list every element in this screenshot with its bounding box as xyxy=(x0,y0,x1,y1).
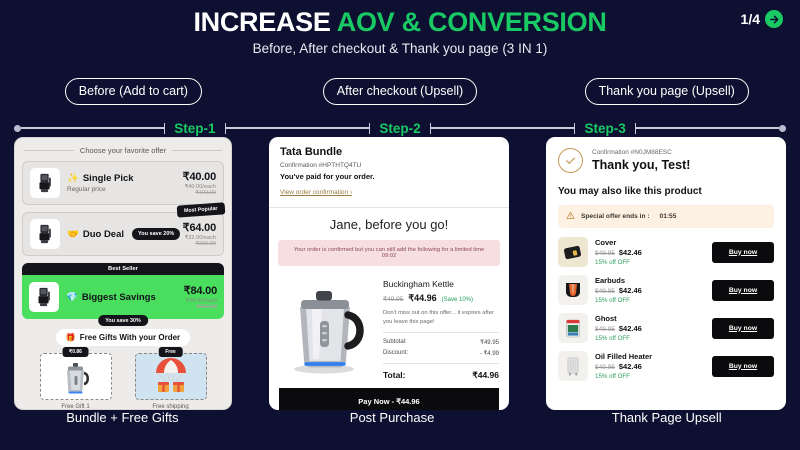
product-name: Buckingham Kettle xyxy=(383,279,499,289)
offer-text: ✨ Single Pick Regular price xyxy=(60,173,183,193)
view-order-confirmation-link[interactable]: View order confirmation › xyxy=(280,189,352,196)
gift-icon: 🎁 xyxy=(66,333,76,342)
rail-end-dot xyxy=(779,125,786,132)
choose-offer-header: Choose your favorite offer xyxy=(24,146,222,155)
product-thumbnail-cover-icon xyxy=(558,237,588,267)
parachute-gift-icon xyxy=(150,357,192,397)
store-name: Tata Bundle xyxy=(280,146,498,158)
thank-you-text-block: Confirmation #N0JM88ESC Thank you, Test! xyxy=(592,149,690,172)
offer-expiry-note: Don't miss out on this offer... it expir… xyxy=(383,309,499,326)
free-gift-item[interactable]: ₹0.86 Free Gift 1 xyxy=(40,353,112,410)
caption-thank-page: Thank Page Upsell xyxy=(547,410,786,425)
product-name: Ghost xyxy=(595,314,705,323)
product-thumbnail-earbuds-icon xyxy=(558,275,588,305)
offer-pricing: ₹84.00 ₹28.00/each ₹300.00 xyxy=(184,284,217,310)
product-thumbnail-icon xyxy=(30,219,60,249)
best-seller-label: Best Seller xyxy=(22,263,224,275)
title-white: INCREASE xyxy=(193,7,330,37)
offer-emoji: 💎 xyxy=(66,292,78,303)
header: INCREASE AOV & CONVERSION Before, After … xyxy=(0,0,800,56)
product-pricing: $49.95 $42.46 xyxy=(595,324,705,333)
product-pricing: $49.95 $42.46 xyxy=(595,248,705,257)
subtotal-label: Subtotal: xyxy=(383,339,407,346)
divider xyxy=(24,150,74,151)
warning-icon xyxy=(566,211,575,222)
gift-price-badge: ₹0.86 xyxy=(62,347,89,357)
offer-option-duo[interactable]: Most Popular 🤝 Duo Deal You save 20% xyxy=(22,212,224,256)
list-item[interactable]: Earbuds $49.95 $42.46 15% off OFF Buy no… xyxy=(558,271,774,309)
product-info: Cover $49.95 $42.46 15% off OFF xyxy=(595,238,705,266)
product-new-price: $42.46 xyxy=(619,362,642,371)
offer-price: ₹40.00 xyxy=(183,170,216,183)
caption-post-purchase: Post Purchase xyxy=(273,410,512,425)
product-pricing: ₹49.95 ₹44.96 (Save 10%) xyxy=(383,293,499,304)
card-captions: Bundle + Free Gifts Post Purchase Thank … xyxy=(0,410,800,425)
total-label: Total: xyxy=(383,370,406,381)
product-thumbnail-icon xyxy=(29,282,59,312)
offer-pricing: ₹40.00 ₹40.00/each ₹100.00 xyxy=(183,170,216,196)
paid-status: You've paid for your order. xyxy=(280,172,498,181)
buy-now-button[interactable]: Buy now xyxy=(712,280,774,301)
step-rail: Step-1 Step-2 Step-3 xyxy=(14,119,786,137)
buy-now-button[interactable]: Buy now xyxy=(712,356,774,377)
free-gifts-header: 🎁 Free Gifts With your Order xyxy=(56,329,190,346)
limited-time-alert: Your order is confirmed but you can stil… xyxy=(278,240,500,266)
caption-bundle: Bundle + Free Gifts xyxy=(14,410,231,425)
step-label-2: Step-2 xyxy=(370,121,429,136)
recommendation-heading: You may also like this product xyxy=(546,179,786,205)
pill-after-checkout[interactable]: After checkout (Upsell) xyxy=(323,78,477,105)
check-circle-icon xyxy=(558,148,583,173)
product-discount: 15% off OFF xyxy=(595,335,705,342)
product-thumbnail-ghost-icon xyxy=(558,313,588,343)
best-save-badge: You save 30% xyxy=(98,315,148,326)
discount-value: - ₹4.99 xyxy=(480,350,499,357)
choose-offer-label: Choose your favorite offer xyxy=(80,146,166,155)
product-thumbnail-heater-icon xyxy=(558,351,588,381)
rail-segment xyxy=(226,127,369,129)
divider xyxy=(172,150,222,151)
product-details: Buckingham Kettle ₹49.95 ₹44.96 (Save 10… xyxy=(383,273,499,381)
product-old-price: $49.95 xyxy=(595,326,615,333)
offer-name-text: Duo Deal xyxy=(83,229,124,240)
step-label-3: Step-3 xyxy=(575,121,634,136)
offer-emoji: 🤝 xyxy=(67,229,79,240)
thank-you-title: Thank you, Test! xyxy=(592,158,690,172)
product-pricing: $49.95 $42.46 xyxy=(595,362,705,371)
offer-subtitle: Regular price xyxy=(67,186,183,193)
product-name: Earbuds xyxy=(595,276,705,285)
offer-price-old: ₹300.00 xyxy=(184,304,217,310)
offer-text: 💎 Biggest Savings xyxy=(59,292,184,303)
title-accent: AOV & CONVERSION xyxy=(337,7,607,37)
buy-now-button[interactable]: Buy now xyxy=(712,318,774,339)
cards-row: Choose your favorite offer ✨ xyxy=(0,137,800,410)
confirmation-number: Confirmation #N0JM88ESC xyxy=(592,149,690,156)
upsell-product-list: Cover $49.95 $42.46 15% off OFF Buy now xyxy=(546,228,786,395)
thank-you-header: Confirmation #N0JM88ESC Thank you, Test! xyxy=(546,137,786,179)
rail-start-dot xyxy=(14,125,21,132)
free-gift-list: ₹0.86 Free Gift 1 xyxy=(22,353,224,410)
special-offer-banner: Special offer ends in : 01:55 xyxy=(558,205,774,228)
page-subtitle: Before, After checkout & Thank you page … xyxy=(0,41,800,56)
confirmation-number: Confirmation #HPTHTQ4TU xyxy=(280,162,498,169)
pill-thank-you[interactable]: Thank you page (Upsell) xyxy=(585,78,749,105)
offer-title: 🤝 Duo Deal You save 20% xyxy=(67,228,183,240)
product-info: Oil Filled Heater $49.95 $42.46 15% off … xyxy=(595,352,705,380)
discount-label: Discount: xyxy=(383,350,408,357)
gift-price-badge: Free xyxy=(158,347,183,357)
product-info: Ghost $49.95 $42.46 15% off OFF xyxy=(595,314,705,342)
gift-image-frame xyxy=(40,353,112,400)
arrow-right-icon[interactable] xyxy=(765,10,783,28)
product-new-price: $42.46 xyxy=(619,286,642,295)
list-item[interactable]: Ghost $49.95 $42.46 15% off OFF Buy now xyxy=(558,309,774,347)
product-save-tag: (Save 10%) xyxy=(442,297,473,303)
offer-pricing: ₹64.00 ₹32.00/each ₹200.00 xyxy=(183,221,216,247)
subtotal-row: Subtotal: ₹49.95 xyxy=(383,339,499,346)
total-value: ₹44.96 xyxy=(472,370,499,381)
rail-segment xyxy=(636,127,779,129)
upsell-product: Buckingham Kettle ₹49.95 ₹44.96 (Save 10… xyxy=(269,266,509,381)
pager[interactable]: 1/4 xyxy=(741,10,783,28)
product-old-price: $49.95 xyxy=(595,364,615,371)
kettle-icon xyxy=(58,357,94,397)
offer-name-text: Biggest Savings xyxy=(82,292,156,303)
pager-count: 1/4 xyxy=(741,11,760,27)
free-gifts-label: Free Gifts With your Order xyxy=(80,333,180,342)
offer-title: 💎 Biggest Savings xyxy=(66,292,184,303)
product-new-price: $42.46 xyxy=(619,248,642,257)
offer-price-old: ₹100.00 xyxy=(183,190,216,196)
best-offer-row[interactable]: 💎 Biggest Savings ₹84.00 ₹28.00/each ₹30… xyxy=(22,275,224,319)
offer-option-best[interactable]: Best Seller 💎 B xyxy=(22,263,224,319)
product-old-price: ₹49.95 xyxy=(383,295,403,303)
offer-title: ✨ Single Pick xyxy=(67,173,183,184)
card-thank-you: Confirmation #N0JM88ESC Thank you, Test!… xyxy=(546,137,786,410)
offer-countdown: 01:55 xyxy=(660,213,677,220)
pill-before[interactable]: Before (Add to cart) xyxy=(65,78,202,105)
offer-ends-label: Special offer ends in : xyxy=(581,213,650,220)
offer-option-single[interactable]: ✨ Single Pick Regular price ₹40.00 ₹40.0… xyxy=(22,161,224,205)
offer-save-chip: You save 20% xyxy=(132,228,180,240)
offer-price: ₹84.00 xyxy=(184,284,217,297)
offer-text: 🤝 Duo Deal You save 20% xyxy=(60,228,183,240)
step-label-1: Step-1 xyxy=(165,121,224,136)
upsell-greeting: Jane, before you go! xyxy=(269,208,509,240)
product-old-price: $49.95 xyxy=(595,250,615,257)
card-post-purchase: Tata Bundle Confirmation #HPTHTQ4TU You'… xyxy=(269,137,509,410)
product-discount: 15% off OFF xyxy=(595,259,705,266)
divider xyxy=(383,332,499,333)
most-popular-ribbon: Most Popular xyxy=(177,202,225,217)
post-purchase-header: Tata Bundle Confirmation #HPTHTQ4TU You'… xyxy=(269,137,509,207)
product-info: Earbuds $49.95 $42.46 15% off OFF xyxy=(595,276,705,304)
offer-name-text: Single Pick xyxy=(83,173,134,184)
offer-emoji: ✨ xyxy=(67,173,79,184)
divider xyxy=(383,363,499,364)
product-image xyxy=(279,273,377,381)
product-pricing: $49.95 $42.46 xyxy=(595,286,705,295)
page-title: INCREASE AOV & CONVERSION xyxy=(0,8,800,36)
rail-segment xyxy=(431,127,574,129)
offer-price-old: ₹200.00 xyxy=(183,241,216,247)
rail-segment xyxy=(21,127,164,129)
pay-now-button[interactable]: Pay Now - ₹44.96 xyxy=(279,388,499,410)
list-item[interactable]: Oil Filled Heater $49.95 $42.46 15% off … xyxy=(558,347,774,385)
product-thumbnail-icon xyxy=(30,168,60,198)
product-new-price: $42.46 xyxy=(619,324,642,333)
product-discount: 15% off OFF xyxy=(595,373,705,380)
gift-image-frame xyxy=(135,353,207,400)
subtotal-value: ₹49.95 xyxy=(480,339,499,346)
product-new-price: ₹44.96 xyxy=(408,293,436,304)
total-row: Total: ₹44.96 xyxy=(383,370,499,381)
buy-now-button[interactable]: Buy now xyxy=(712,242,774,263)
offer-price: ₹64.00 xyxy=(183,221,216,234)
product-name: Cover xyxy=(595,238,705,247)
slide-root: INCREASE AOV & CONVERSION Before, After … xyxy=(0,0,800,450)
product-name: Oil Filled Heater xyxy=(595,352,705,361)
discount-row: Discount: - ₹4.99 xyxy=(383,350,499,357)
kettle-product-icon xyxy=(282,279,374,375)
product-discount: 15% off OFF xyxy=(595,297,705,304)
card-add-to-cart: Choose your favorite offer ✨ xyxy=(14,137,232,410)
product-old-price: $49.95 xyxy=(595,288,615,295)
free-gift-item[interactable]: Free Fr xyxy=(135,353,207,410)
list-item[interactable]: Cover $49.95 $42.46 15% off OFF Buy now xyxy=(558,233,774,271)
stage-pills: Before (Add to cart) After checkout (Ups… xyxy=(0,78,800,105)
